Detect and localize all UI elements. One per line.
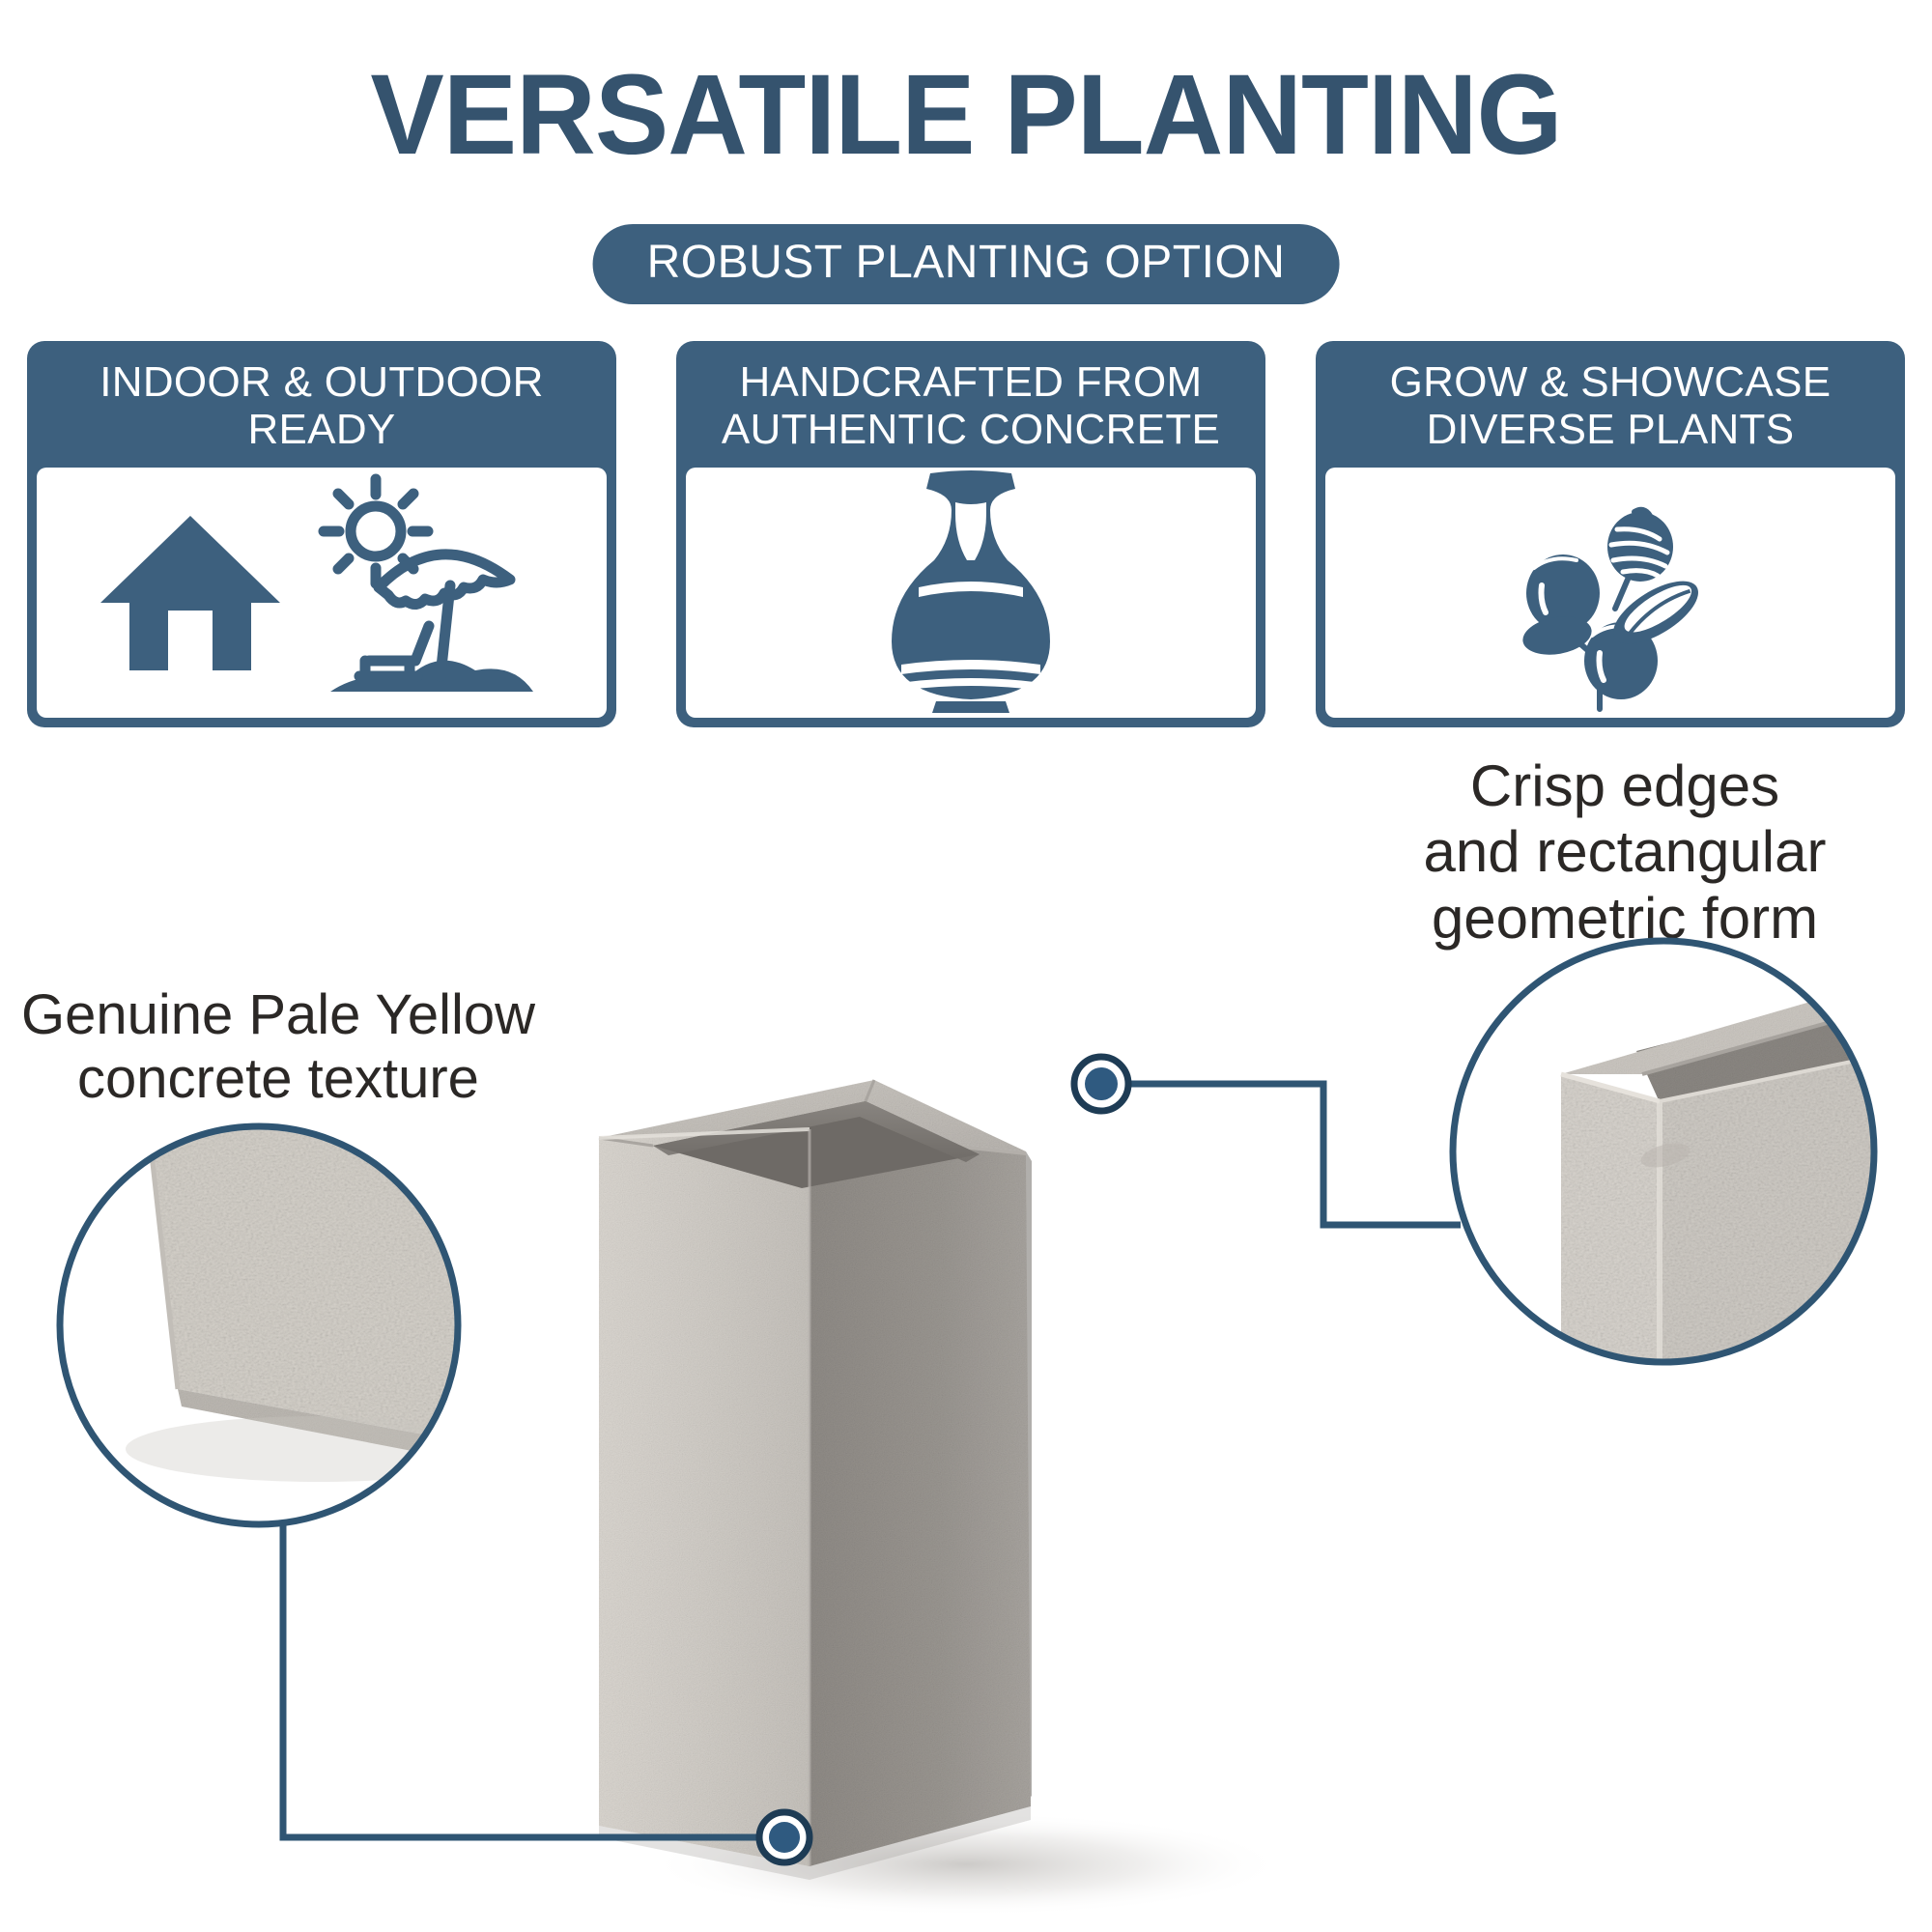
connector-concrete-texture: [283, 1524, 763, 1837]
planter-inner-cavity: [653, 1101, 980, 1188]
house-icon: [99, 508, 282, 677]
feature-icon-group: [37, 468, 607, 718]
feature-card-indoor-outdoor-ready: INDOOR & OUTDOOR READY: [27, 341, 616, 727]
callout-label-crisp-edges: Crisp edges and rectangular geometric fo…: [1325, 753, 1924, 952]
callout-line: Genuine Pale Yellow: [8, 983, 549, 1047]
callout-line: and rectangular: [1325, 819, 1924, 885]
berry-branch-icon: [1499, 471, 1721, 713]
callout-line: concrete texture: [8, 1047, 549, 1111]
feature-icon-group: [686, 468, 1256, 718]
detail-circle-rim-corner: [1449, 937, 1893, 1372]
callout-marker-top-rim: [1074, 1057, 1128, 1111]
callout-label-concrete-texture: Genuine Pale Yellow concrete texture: [8, 983, 549, 1111]
connector-crisp-edges: [1123, 1084, 1461, 1225]
page-title: VERSATILE PLANTING: [29, 54, 1903, 177]
callout-line: geometric form: [1325, 886, 1924, 952]
product-ground-shadow: [647, 1812, 1285, 1917]
vase-icon: [874, 468, 1067, 717]
callout-line: Crisp edges: [1325, 753, 1924, 819]
detail-circle-concrete-texture: [58, 1111, 512, 1526]
feature-card-handcrafted-concrete: HANDCRAFTED FROM AUTHENTIC CONCRETE: [676, 341, 1265, 727]
subtitle-badge: ROBUST PLANTING OPTION: [593, 224, 1340, 304]
beach-umbrella-icon: [303, 471, 545, 713]
feature-card-title: INDOOR & OUTDOOR READY: [27, 341, 616, 468]
planter-right-face: [810, 1129, 1031, 1866]
planter-front-face: [599, 1129, 810, 1866]
feature-card-grow-showcase-plants: GROW & SHOWCASE DIVERSE PLANTS: [1316, 341, 1905, 727]
feature-card-title: HANDCRAFTED FROM AUTHENTIC CONCRETE: [676, 341, 1265, 468]
feature-card-title: GROW & SHOWCASE DIVERSE PLANTS: [1316, 341, 1905, 468]
callout-marker-front-bottom: [759, 1812, 810, 1862]
square-concrete-planter: [599, 1080, 1032, 1880]
feature-icon-group: [1325, 468, 1895, 718]
planter-top-rim: [599, 1080, 1026, 1151]
